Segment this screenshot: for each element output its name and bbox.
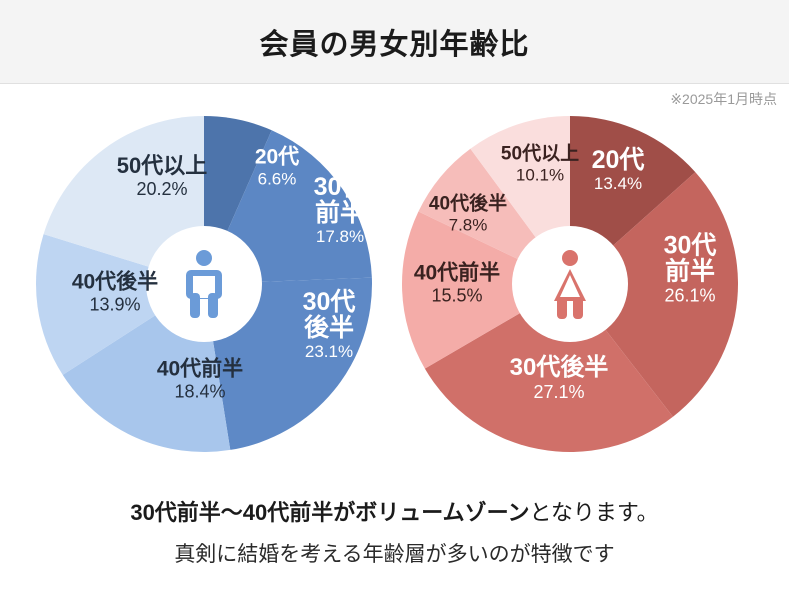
page-header: 会員の男女別年齢比 bbox=[0, 0, 789, 84]
charts-area: 20代6.6%30代前半17.8%30代後半23.1%40代前半18.4%40代… bbox=[0, 114, 789, 484]
summary-caption: 30代前半～40代前半がボリュームゾーンとなります。 真剣に結婚を考える年齢層が… bbox=[0, 495, 789, 568]
caption-line-2: 真剣に結婚を考える年齢層が多いのが特徴です bbox=[0, 538, 789, 568]
caption-highlight: 30代前半～40代前半がボリュームゾーン bbox=[130, 500, 529, 525]
page-title: 会員の男女別年齢比 bbox=[259, 21, 529, 63]
as-of-date-note: ※2025年1月時点 bbox=[670, 89, 777, 109]
caption-line-1: 30代前半～40代前半がボリュームゾーンとなります。 bbox=[0, 495, 789, 527]
male-figure-icon bbox=[176, 249, 232, 319]
note-row: ※2025年1月時点 bbox=[0, 84, 789, 114]
male-age-donut-chart: 20代6.6%30代前半17.8%30代後半23.1%40代前半18.4%40代… bbox=[34, 114, 374, 454]
female-age-donut-chart: 20代13.4%30代前半26.1%30代後半27.1%40代前半15.5%40… bbox=[400, 114, 740, 454]
male-chart-center-hub bbox=[146, 226, 262, 342]
female-figure-icon bbox=[542, 249, 598, 319]
caption-line1-rest: となります。 bbox=[530, 500, 659, 525]
female-chart-center-hub bbox=[512, 226, 628, 342]
